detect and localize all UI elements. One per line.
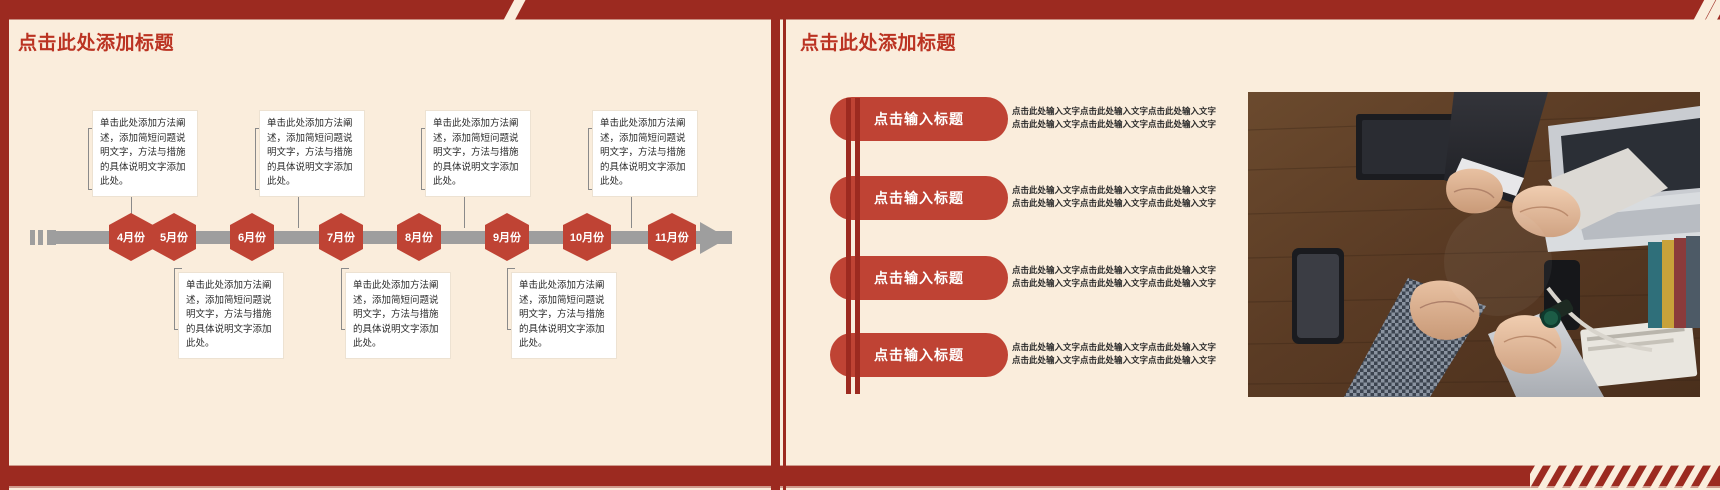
timeline-month-badge[interactable]: 11月份 bbox=[648, 213, 696, 261]
body-line: 点击此处输入文字点击此处输入文字点击此处输入文字 bbox=[1012, 354, 1252, 367]
title-accent-bars bbox=[846, 98, 860, 394]
body-line: 点击此处输入文字点击此处输入文字点击此处输入文字 bbox=[1012, 277, 1252, 290]
timeline-text-box[interactable]: 单击此处添加方法阐述，添加简短问题说明文字，方法与措施的具体说明文字添加此处。 bbox=[345, 272, 451, 359]
timeline-text-box[interactable]: 单击此处添加方法阐述，添加简短问题说明文字，方法与措施的具体说明文字添加此处。 bbox=[425, 110, 531, 197]
body-line: 点击此处输入文字点击此处输入文字点击此处输入文字 bbox=[1012, 105, 1252, 118]
page-title-left: 点击此处添加标题 bbox=[18, 28, 174, 55]
timeline-month-badge[interactable]: 9月份 bbox=[485, 213, 529, 261]
content-body-text: 点击此处输入文字点击此处输入文字点击此处输入文字 点击此处输入文字点击此处输入文… bbox=[1012, 264, 1252, 290]
timeline-month-badge[interactable]: 4月份 bbox=[109, 213, 153, 261]
content-body-text: 点击此处输入文字点击此处输入文字点击此处输入文字 点击此处输入文字点击此处输入文… bbox=[1012, 184, 1252, 210]
body-line: 点击此处输入文字点击此处输入文字点击此处输入文字 bbox=[1012, 264, 1252, 277]
timeline-text-box[interactable]: 单击此处添加方法阐述，添加简短问题说明文字，方法与措施的具体说明文字添加此处。 bbox=[259, 110, 365, 197]
connector-line bbox=[464, 194, 465, 228]
panel-divider-bar-thin bbox=[783, 0, 786, 490]
arrow-right-icon bbox=[700, 222, 728, 254]
timeline-month-badge[interactable]: 7月份 bbox=[319, 213, 363, 261]
timeline-month-badge[interactable]: 6月份 bbox=[230, 213, 274, 261]
team-fist-bump-over-desk-photo bbox=[1248, 92, 1700, 397]
left-edge-bar bbox=[0, 0, 9, 490]
timeline-text-box[interactable]: 单击此处添加方法阐述，添加简短问题说明文字，方法与措施的具体说明文字添加此处。 bbox=[92, 110, 198, 197]
timeline-text-box[interactable]: 单击此处添加方法阐述，添加简短问题说明文字，方法与措施的具体说明文字添加此处。 bbox=[511, 272, 617, 359]
body-line: 点击此处输入文字点击此处输入文字点击此处输入文字 bbox=[1012, 118, 1252, 131]
bottom-stripes-icon bbox=[1530, 458, 1720, 490]
tick-marks-icon bbox=[30, 230, 56, 245]
slide-canvas: 点击此处添加标题 单击此处添加方法阐述，添加简短问题说明文字，方法与措施的具体说… bbox=[0, 0, 1720, 490]
body-line: 点击此处输入文字点击此处输入文字点击此处输入文字 bbox=[1012, 341, 1252, 354]
timeline-month-badge[interactable]: 5月份 bbox=[152, 213, 196, 261]
connector-line bbox=[298, 194, 299, 228]
timeline-text-box[interactable]: 单击此处添加方法阐述，添加简短问题说明文字，方法与措施的具体说明文字添加此处。 bbox=[178, 272, 284, 359]
top-decorative-bar bbox=[9, 0, 1720, 20]
body-line: 点击此处输入文字点击此处输入文字点击此处输入文字 bbox=[1012, 197, 1252, 210]
page-title-right: 点击此处添加标题 bbox=[800, 28, 956, 55]
timeline-month-badge[interactable]: 8月份 bbox=[397, 213, 441, 261]
connector-line bbox=[631, 194, 632, 228]
body-line: 点击此处输入文字点击此处输入文字点击此处输入文字 bbox=[1012, 184, 1252, 197]
timeline-month-badge[interactable]: 10月份 bbox=[563, 213, 611, 261]
content-body-text: 点击此处输入文字点击此处输入文字点击此处输入文字 点击此处输入文字点击此处输入文… bbox=[1012, 105, 1252, 131]
panel-divider-bar bbox=[771, 0, 780, 490]
content-body-text: 点击此处输入文字点击此处输入文字点击此处输入文字 点击此处输入文字点击此处输入文… bbox=[1012, 341, 1252, 367]
timeline-text-box[interactable]: 单击此处添加方法阐述，添加简短问题说明文字，方法与措施的具体说明文字添加此处。 bbox=[592, 110, 698, 197]
bottom-decorative-bar bbox=[0, 458, 1720, 490]
